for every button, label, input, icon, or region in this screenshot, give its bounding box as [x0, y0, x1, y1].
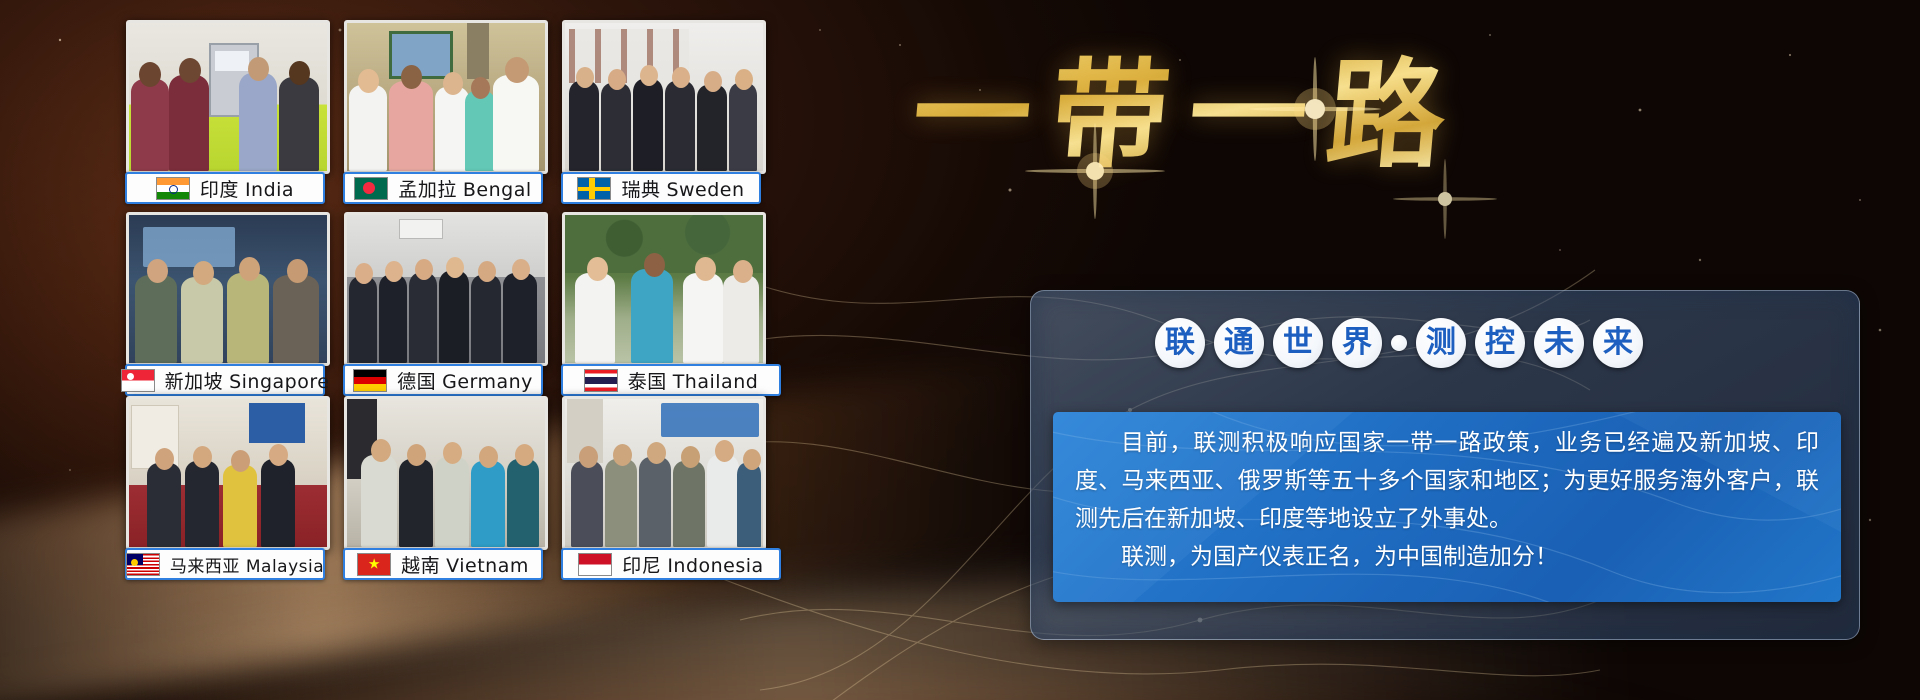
label-en: Sweden: [666, 179, 744, 201]
sweden-flag-icon: [577, 177, 611, 200]
label-zh: 德国: [397, 371, 436, 393]
photo-sweden: [562, 20, 766, 174]
label-bengal[interactable]: 孟加拉Bengal: [343, 172, 543, 204]
label-en: Singapore: [229, 371, 329, 393]
photo-malaysia: [126, 396, 330, 550]
photo-thailand: [562, 212, 766, 366]
label-en: Malaysia: [246, 557, 324, 577]
description-text: 目前，联测积极响应国家一带一路政策，业务已经遍及新加坡、印度、马来西亚、俄罗斯等…: [1075, 424, 1819, 576]
label-sweden[interactable]: 瑞典Sweden: [561, 172, 761, 204]
slogan-separator-dot: [1391, 335, 1407, 351]
slogan-char: 通: [1214, 318, 1264, 368]
label-zh: 印尼: [622, 555, 661, 577]
thailand-flag-icon: [584, 369, 618, 392]
label-zh: 越南: [401, 555, 440, 577]
description-box: 目前，联测积极响应国家一带一路政策，业务已经遍及新加坡、印度、马来西亚、俄罗斯等…: [1053, 412, 1841, 602]
slogan-char: 联: [1155, 318, 1205, 368]
label-zh: 瑞典: [621, 179, 660, 201]
india-flag-icon: [156, 177, 190, 200]
label-vietnam[interactable]: 越南Vietnam: [343, 548, 543, 580]
label-en: Bengal: [463, 179, 532, 201]
photo-indonesia: [562, 396, 766, 550]
label-en: India: [245, 179, 294, 201]
label-en: Vietnam: [446, 555, 529, 577]
label-thailand[interactable]: 泰国Thailand: [561, 364, 781, 396]
label-en: Indonesia: [667, 555, 763, 577]
slogan-char: 控: [1475, 318, 1525, 368]
vietnam-flag-icon: [357, 553, 391, 576]
label-zh: 马来西亚: [170, 557, 240, 577]
photo-vietnam: [344, 396, 548, 550]
germany-flag-icon: [353, 369, 387, 392]
slogan-char: 界: [1332, 318, 1382, 368]
description-paragraph-1: 目前，联测积极响应国家一带一路政策，业务已经遍及新加坡、印度、马来西亚、俄罗斯等…: [1075, 424, 1819, 538]
slogan-char: 来: [1593, 318, 1643, 368]
banner-stage: 印度India: [0, 0, 1920, 700]
photo-india: [126, 20, 330, 174]
calligraphy-title: 一带一路: [840, 4, 1540, 204]
photo-germany: [344, 212, 548, 366]
label-singapore[interactable]: 新加坡Singapore: [125, 364, 325, 396]
slogan: 联 通 世 界 测 控 未 来: [1155, 318, 1643, 368]
singapore-flag-icon: [121, 369, 155, 392]
label-en: Thailand: [673, 371, 759, 393]
label-zh: 新加坡: [165, 371, 224, 393]
slogan-char: 未: [1534, 318, 1584, 368]
label-germany[interactable]: 德国Germany: [343, 364, 543, 396]
label-india[interactable]: 印度India: [125, 172, 325, 204]
country-photo-grid: 印度India: [120, 12, 780, 684]
photo-singapore: [126, 212, 330, 366]
label-malaysia[interactable]: 马来西亚Malaysia: [125, 548, 325, 580]
calligraphy-text: 一带一路: [907, 19, 1474, 190]
label-en: Germany: [442, 371, 533, 393]
slogan-char: 测: [1416, 318, 1466, 368]
label-zh: 泰国: [628, 371, 667, 393]
label-indonesia[interactable]: 印尼Indonesia: [561, 548, 781, 580]
description-paragraph-2: 联测，为国产仪表正名，为中国制造加分！: [1075, 538, 1819, 576]
label-zh: 孟加拉: [398, 179, 457, 201]
photo-bengal: [344, 20, 548, 174]
label-zh: 印度: [200, 179, 239, 201]
bengal-flag-icon: [354, 177, 388, 200]
slogan-char: 世: [1273, 318, 1323, 368]
malaysia-flag-icon: [126, 553, 160, 576]
indonesia-flag-icon: [578, 553, 612, 576]
